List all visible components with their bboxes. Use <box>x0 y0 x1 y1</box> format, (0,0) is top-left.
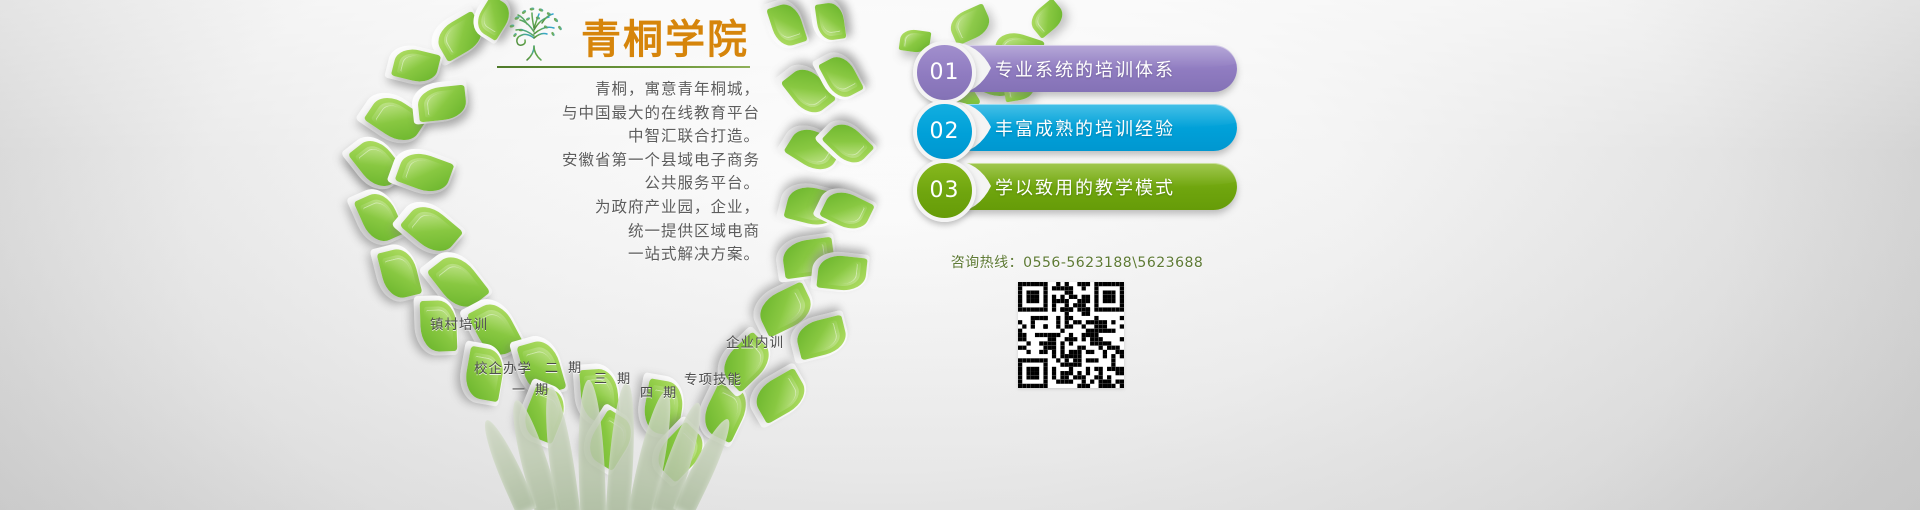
intro-paragraph: 青桐，寓意青年桐城， 与中国最大的在线教育平台 中智汇联合打造。 安徽省第一个县… <box>430 78 760 267</box>
feature-number-03: 03 <box>913 159 976 222</box>
feature-number-02: 02 <box>913 100 976 163</box>
intro-line: 与中国最大的在线教育平台 <box>430 102 760 126</box>
intro-line: 统一提供区域电商 <box>430 220 760 244</box>
feature-item-02[interactable]: 02 丰富成熟的培训经验 <box>917 104 1237 151</box>
term-label-3: 三 期 <box>594 368 633 387</box>
brand-logo: 青桐学院 <box>497 4 757 68</box>
qr-code-canvas <box>1018 282 1124 388</box>
tree-icon <box>497 6 571 62</box>
intro-line: 安徽省第一个县域电子商务 <box>430 149 760 173</box>
term-label-2: 二 期 <box>545 357 584 376</box>
intro-line: 青桐，寓意青年桐城， <box>430 78 760 102</box>
feature-number-01: 01 <box>913 41 976 104</box>
feature-item-03[interactable]: 03 学以致用的教学模式 <box>917 163 1237 210</box>
page-title: 青桐学院 <box>581 18 749 62</box>
feature-text-02: 丰富成熟的培训经验 <box>995 115 1175 141</box>
feature-item-01[interactable]: 01 专业系统的培训体系 <box>917 45 1237 92</box>
category-label-zhencun: 镇村培训 <box>430 313 488 333</box>
feature-text-01: 专业系统的培训体系 <box>995 56 1175 82</box>
category-label-zhuanxiang: 专项技能 <box>684 368 742 388</box>
qr-code[interactable] <box>1018 282 1124 388</box>
logo-underline <box>497 66 750 68</box>
intro-line: 为政府产业园，企业， <box>430 196 760 220</box>
promo-banner: 青桐学院 青桐，寓意青年桐城， 与中国最大的在线教育平台 中智汇联合打造。 安徽… <box>0 0 1920 510</box>
intro-line: 一站式解决方案。 <box>430 243 760 267</box>
feature-text-03: 学以致用的教学模式 <box>995 174 1175 200</box>
intro-line: 公共服务平台。 <box>430 172 760 196</box>
term-label-1: 一 期 <box>512 379 551 398</box>
category-label-qiye: 企业内训 <box>726 331 784 351</box>
intro-line: 中智汇联合打造。 <box>430 125 760 149</box>
hotline-text: 咨询热线：0556-5623188\5623688 <box>917 252 1237 272</box>
feature-list: 01 专业系统的培训体系 02 丰富成熟的培训经验 03 学以致用的教学模式 <box>917 45 1237 222</box>
term-label-4: 四 期 <box>640 382 679 401</box>
category-label-xiaoqi: 校企办学 <box>474 357 532 377</box>
